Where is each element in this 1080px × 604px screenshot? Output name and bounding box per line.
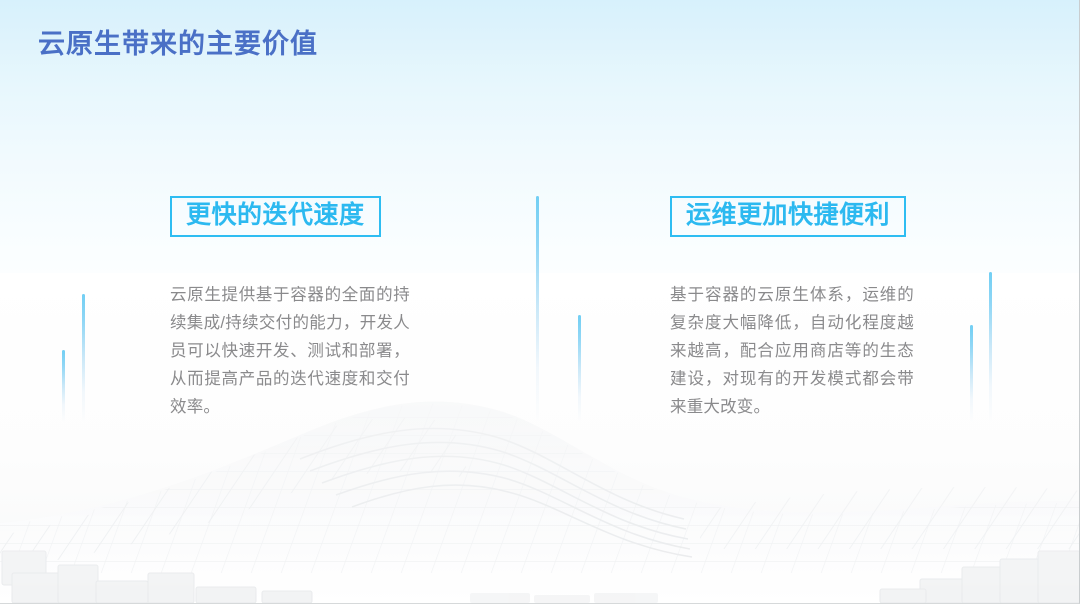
accent-line-1 xyxy=(62,350,65,422)
accent-line-3 xyxy=(536,196,539,422)
column-heading-label-right: 运维更加快捷便利 xyxy=(686,201,890,229)
column-heading-box-right: 运维更加快捷便利 xyxy=(670,196,906,237)
column-body-text-left: 云原生提供基于容器的全面的持续集成/持续交付的能力，开发人员可以快速开发、测试和… xyxy=(170,281,410,421)
column-heading-box-left: 更快的迭代速度 xyxy=(170,196,381,237)
accent-line-5 xyxy=(970,325,973,422)
value-column-left: 更快的迭代速度 云原生提供基于容器的全面的持续集成/持续交付的能力，开发人员可以… xyxy=(170,196,470,421)
column-heading-label-left: 更快的迭代速度 xyxy=(186,201,365,229)
page-title: 云原生带来的主要价值 xyxy=(38,22,318,61)
accent-line-4 xyxy=(578,315,581,422)
value-column-right: 运维更加快捷便利 基于容器的云原生体系，运维的复杂度大幅降低，自动化程度越来越高… xyxy=(670,196,970,421)
accent-line-6 xyxy=(989,272,992,422)
slide-canvas: 云原生带来的主要价值 更快的迭代速度 云原生提供基于容器的全面的持续集成/持续交… xyxy=(0,0,1080,604)
column-body-text-right: 基于容器的云原生体系，运维的复杂度大幅降低，自动化程度越来越高，配合应用商店等的… xyxy=(670,281,914,421)
accent-line-2 xyxy=(82,294,85,422)
